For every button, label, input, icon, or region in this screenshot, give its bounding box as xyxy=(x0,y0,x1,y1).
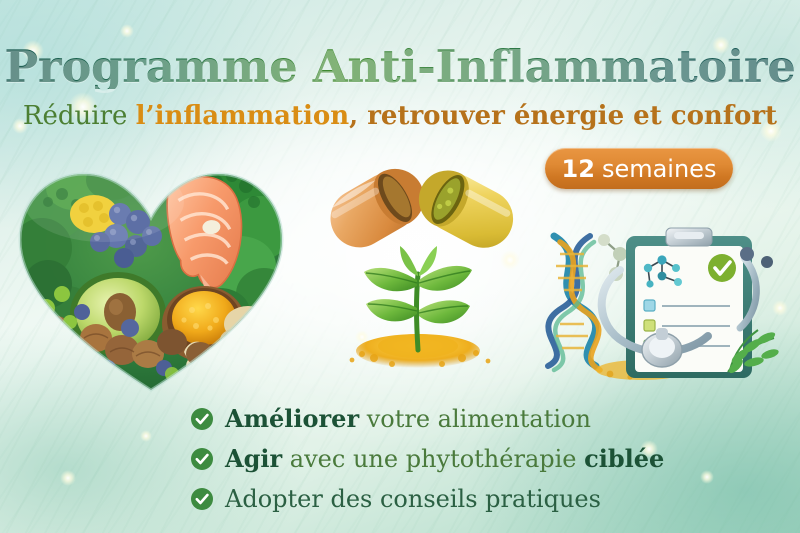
list-item-text: Améliorer votre alimentation xyxy=(225,407,591,431)
subtitle-part-1: Réduire xyxy=(23,101,136,131)
subtitle-part-3: , retrouver énergie et confort xyxy=(349,101,777,131)
clipboard-dna-illustration xyxy=(538,218,800,380)
badge-number: 12 xyxy=(562,157,595,181)
badge-unit: semaines xyxy=(602,157,717,181)
list-item-emphasis-tail: ciblée xyxy=(584,444,664,473)
check-circle-icon xyxy=(190,407,214,431)
duration-badge: 12 semaines xyxy=(545,148,733,189)
check-circle-icon xyxy=(190,447,214,471)
list-item-body: Adopter des conseils pratiques xyxy=(225,485,601,513)
clipboard-checklist-stethoscope-dna-icon xyxy=(538,218,800,380)
sparkle-icon xyxy=(60,470,76,486)
list-item-emphasis: Agir xyxy=(225,444,282,473)
heart-of-healthy-foods-illustration xyxy=(12,162,290,394)
page-subtitle: Réduire l’inflammation, retrouver énergi… xyxy=(0,103,800,129)
page-title: Programme Anti-Inflammatoire xyxy=(0,44,800,89)
list-item: Améliorer votre alimentation xyxy=(190,400,750,438)
list-item-body: avec une phytothérapie xyxy=(282,445,584,473)
list-item-emphasis: Améliorer xyxy=(225,404,359,433)
anti-inflammatory-program-banner: Programme Anti-Inflammatoire Réduire l’i… xyxy=(0,0,800,533)
subtitle-part-2-highlight: l’inflammation xyxy=(136,101,349,131)
list-item: Adopter des conseils pratiques xyxy=(190,480,750,518)
benefits-list: Améliorer votre alimentation Agir avec u… xyxy=(190,400,750,520)
open-capsule-sprout-icon xyxy=(312,168,526,373)
list-item-body: votre alimentation xyxy=(359,405,591,433)
list-item-text: Agir avec une phytothérapie ciblée xyxy=(225,447,664,471)
sparkle-icon xyxy=(140,430,152,442)
capsule-plant-illustration xyxy=(312,168,526,373)
list-item-text: Adopter des conseils pratiques xyxy=(225,487,601,511)
sparkle-icon xyxy=(120,24,134,38)
list-item: Agir avec une phytothérapie ciblée xyxy=(190,440,750,478)
heart-food-icon xyxy=(12,162,290,394)
check-circle-icon xyxy=(190,487,214,511)
